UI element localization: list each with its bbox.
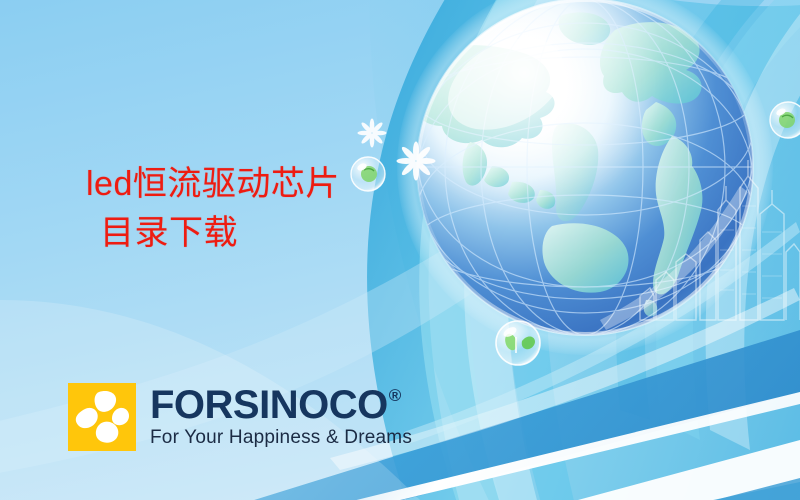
- city-skyline-silhouette: [640, 160, 800, 320]
- brand-wordmark-text: FORSINOCO: [150, 385, 388, 425]
- city-light-ray: [600, 186, 748, 330]
- teal-field: [369, 0, 800, 500]
- globe-continents: [395, 12, 702, 316]
- bubble-globe-right: [770, 102, 800, 138]
- earth-globe: [395, 0, 773, 355]
- white-flower-small: [358, 119, 387, 148]
- brand-wordmark: FORSINOCO ®: [150, 385, 412, 425]
- arc-ribbons: [367, 0, 800, 500]
- brand-logo[interactable]: FORSINOCO ® For Your Happiness & Dreams: [68, 383, 412, 451]
- brand-logo-text: FORSINOCO ® For Your Happiness & Dreams: [150, 385, 412, 449]
- city-windows: [720, 206, 782, 298]
- bubble-leaf: [496, 321, 540, 365]
- globe-grid: [417, 0, 753, 335]
- forsinoco-pinwheel-icon: [68, 383, 136, 451]
- diagonal-light-streaks: [190, 222, 800, 500]
- headline-line-2: 目录下载: [100, 209, 426, 258]
- headline-block: led恒流驱动芯片 目录下载: [86, 160, 426, 259]
- promotional-banner: led恒流驱动芯片 目录下载 FORSINOCO ® For Your Happ…: [0, 0, 800, 500]
- headline-line-1: led恒流驱动芯片: [86, 160, 426, 209]
- brand-tagline: For Your Happiness & Dreams: [150, 428, 412, 449]
- registered-trademark-symbol: ®: [389, 387, 401, 404]
